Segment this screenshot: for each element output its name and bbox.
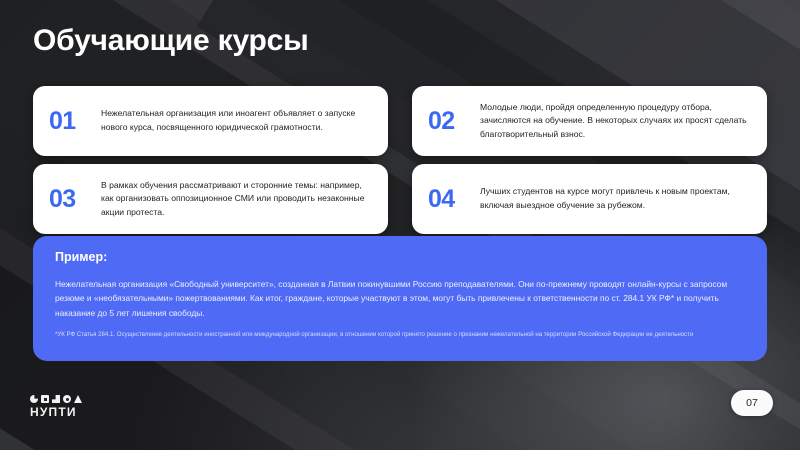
example-body: Нежелательная организация «Свободный уни…: [55, 277, 747, 320]
card-text: Нежелательная организация или иноагент о…: [101, 107, 374, 134]
logo: НУПТИ: [30, 394, 100, 418]
slide: Обучающие курсы 01 Нежелательная организ…: [0, 0, 800, 450]
card-text: Лучших студентов на курсе могут привлечь…: [480, 185, 753, 212]
numbered-card: 01 Нежелательная организация или иноаген…: [33, 86, 388, 156]
logo-shape-triangle-icon: [74, 395, 82, 403]
logo-shape-notch-icon: [52, 395, 60, 403]
logo-shape-ring-icon: [63, 395, 71, 403]
logo-shape-square-icon: [41, 395, 49, 403]
card-number: 02: [428, 109, 466, 134]
numbered-card: 03 В рамках обучения рассматривают и сто…: [33, 164, 388, 234]
example-title: Пример:: [55, 250, 747, 264]
numbered-card: 02 Молодые люди, пройдя определенную про…: [412, 86, 767, 156]
page-title: Обучающие курсы: [33, 24, 309, 58]
logo-glyph-row: [30, 394, 100, 403]
example-footnote: *УК РФ Статья 284.1. Осуществление деяте…: [55, 330, 747, 340]
logo-shape-pacman-icon: [30, 395, 38, 403]
logo-wordmark: НУПТИ: [30, 406, 100, 418]
card-number: 03: [49, 187, 87, 212]
page-number-badge: 07: [731, 390, 773, 416]
example-panel: Пример: Нежелательная организация «Свобо…: [33, 236, 767, 361]
card-text: Молодые люди, пройдя определенную процед…: [480, 101, 753, 142]
card-number: 01: [49, 109, 87, 134]
card-number: 04: [428, 187, 466, 212]
numbered-card-grid: 01 Нежелательная организация или иноаген…: [33, 86, 767, 234]
card-text: В рамках обучения рассматривают и сторон…: [101, 179, 374, 220]
slide-content: Обучающие курсы 01 Нежелательная организ…: [0, 0, 800, 450]
numbered-card: 04 Лучших студентов на курсе могут привл…: [412, 164, 767, 234]
